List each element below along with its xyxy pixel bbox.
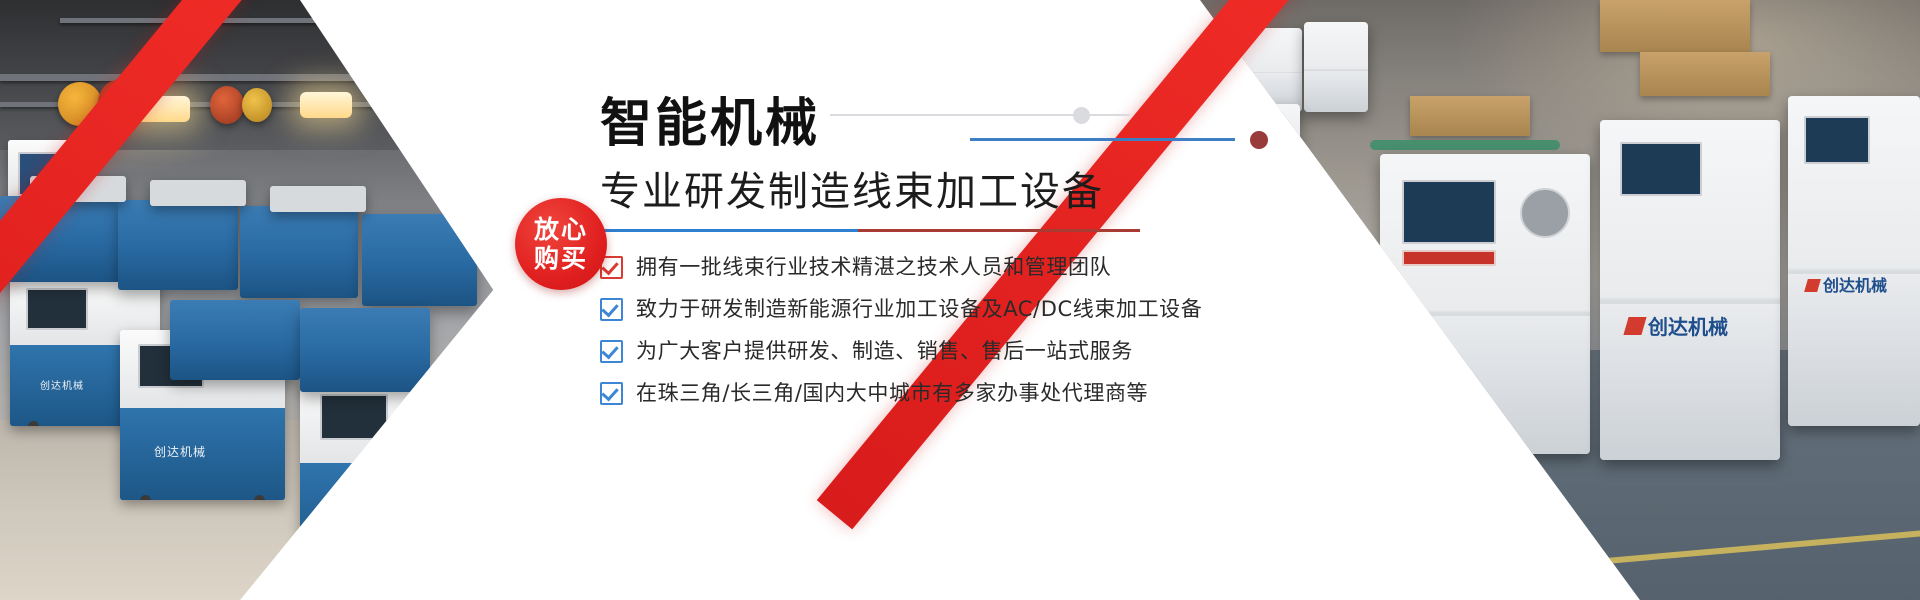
badge-line-1: 放心 bbox=[534, 215, 588, 244]
list-item: 在珠三角/长三角/国内大中城市有多家办事处代理商等 bbox=[600, 380, 1280, 406]
banner-content: 智能机械 专业研发制造线束加工设备 拥有一批线束行业技术精湛之技术人员和管理团队… bbox=[600, 95, 1280, 422]
brand-mark-icon bbox=[1623, 317, 1646, 335]
assembly-machine bbox=[1380, 154, 1590, 454]
list-item-label: 在珠三角/长三角/国内大中城市有多家办事处代理商等 bbox=[636, 380, 1148, 406]
green-cable-coil bbox=[1370, 140, 1560, 150]
machine-caster bbox=[140, 495, 151, 500]
promo-banner: 创达机械 创达机械 创达机械 bbox=[0, 0, 1920, 600]
wooden-crate bbox=[1640, 52, 1770, 96]
divider-rule bbox=[600, 229, 1140, 232]
assembly-machine: 创达机械 bbox=[1788, 96, 1920, 426]
reassurance-badge: 放心 购买 bbox=[515, 198, 607, 290]
wooden-crate bbox=[1600, 0, 1750, 52]
frame-structure bbox=[270, 186, 366, 212]
machine-body bbox=[1380, 316, 1590, 454]
machine-screen bbox=[320, 394, 388, 440]
machine-touchscreen bbox=[1402, 180, 1496, 244]
ceiling-lamp bbox=[300, 92, 352, 118]
control-button-row bbox=[1402, 250, 1496, 266]
machine-brand-label: 创达机械 bbox=[338, 495, 394, 514]
assembly-machine: 创达机械 bbox=[1600, 120, 1780, 460]
machine-screen bbox=[1804, 116, 1870, 164]
check-box-icon bbox=[600, 382, 623, 405]
floor-safety-line bbox=[1291, 565, 1589, 600]
distant-machine bbox=[1304, 22, 1368, 112]
brand-logo: 创达机械 bbox=[1626, 311, 1728, 340]
banner-subtitle: 专业研发制造线束加工设备 bbox=[600, 167, 1280, 217]
divider-red-segment bbox=[858, 229, 1140, 232]
machine-screen bbox=[26, 288, 88, 330]
brand-text: 创达机械 bbox=[1823, 276, 1887, 295]
list-item-label: 为广大客户提供研发、制造、销售、售后一站式服务 bbox=[636, 338, 1133, 364]
machine-brand-label: 创达机械 bbox=[40, 377, 84, 392]
cable-reel bbox=[242, 88, 272, 122]
title-row: 智能机械 bbox=[600, 95, 1280, 161]
cable-reel bbox=[210, 86, 244, 124]
list-item: 为广大客户提供研发、制造、销售、售后一站式服务 bbox=[600, 338, 1280, 364]
divider-blue-segment bbox=[600, 229, 860, 232]
machine-caster bbox=[254, 495, 265, 500]
machine-row bbox=[300, 308, 430, 392]
badge-line-2: 购买 bbox=[534, 244, 588, 273]
machine-row bbox=[118, 200, 238, 290]
machine-body bbox=[1304, 71, 1368, 112]
machine-screen bbox=[1620, 142, 1702, 196]
title-decoration bbox=[830, 105, 1282, 151]
machine-caster bbox=[28, 421, 39, 426]
list-item-label: 拥有一批线束行业技术精湛之技术人员和管理团队 bbox=[636, 254, 1111, 280]
machine-body bbox=[300, 463, 475, 560]
list-item-label: 致力于研发制造新能源行业加工设备及AC/DC线束加工设备 bbox=[636, 296, 1202, 322]
machine-fan-vent bbox=[1520, 188, 1570, 238]
frame-structure bbox=[150, 180, 246, 206]
check-box-icon bbox=[600, 340, 623, 363]
wooden-crate bbox=[1410, 96, 1530, 136]
machine-body bbox=[1788, 274, 1920, 426]
list-item: 拥有一批线束行业技术精湛之技术人员和管理团队 bbox=[600, 254, 1280, 280]
brand-logo: 创达机械 bbox=[1806, 272, 1887, 296]
machine-brand-label: 创达机械 bbox=[154, 443, 206, 460]
brand-text: 创达机械 bbox=[1648, 315, 1728, 339]
list-item: 致力于研发制造新能源行业加工设备及AC/DC线束加工设备 bbox=[600, 296, 1280, 322]
machine-row bbox=[240, 206, 358, 298]
decoration-gray-dot bbox=[1073, 107, 1090, 124]
decoration-red-dot bbox=[1250, 131, 1268, 149]
machine-row bbox=[170, 300, 300, 380]
check-box-icon bbox=[600, 298, 623, 321]
decoration-blue-line bbox=[970, 138, 1235, 141]
brand-mark-icon bbox=[1804, 279, 1821, 292]
wire-harness-machine: 创达机械 bbox=[300, 380, 475, 560]
feature-list: 拥有一批线束行业技术精湛之技术人员和管理团队 致力于研发制造新能源行业加工设备及… bbox=[600, 254, 1280, 406]
